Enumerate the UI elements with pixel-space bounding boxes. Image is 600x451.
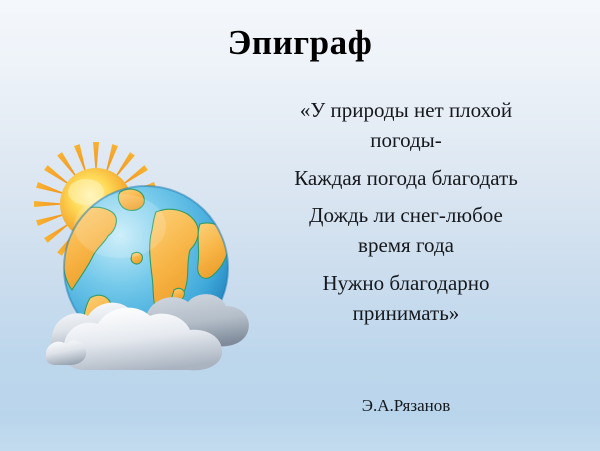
quote-line: погоды- [246, 126, 566, 156]
epigraph-quote: «У природы нет плохой погоды- Каждая пог… [246, 96, 566, 329]
page-title: Эпиграф [0, 24, 600, 63]
quote-line: Каждая погода благодать [246, 164, 566, 194]
quote-line: время года [246, 231, 566, 261]
quote-stanza: Каждая погода благодать [246, 164, 566, 194]
quote-stanza: Нужно благодарно принимать» [246, 269, 566, 329]
quote-stanza: «У природы нет плохой погоды- [246, 96, 566, 156]
quote-line: принимать» [246, 299, 566, 329]
quote-attribution: Э.А.Рязанов [246, 396, 566, 416]
quote-stanza: Дождь ли снег-любое время года [246, 201, 566, 261]
quote-line: «У природы нет плохой [246, 96, 566, 126]
quote-line: Дождь ли снег-любое [246, 201, 566, 231]
weather-illustration [28, 140, 258, 375]
quote-line: Нужно благодарно [246, 269, 566, 299]
slide-canvas: Эпиграф «У природы нет плохой погоды- Ка… [0, 0, 600, 451]
